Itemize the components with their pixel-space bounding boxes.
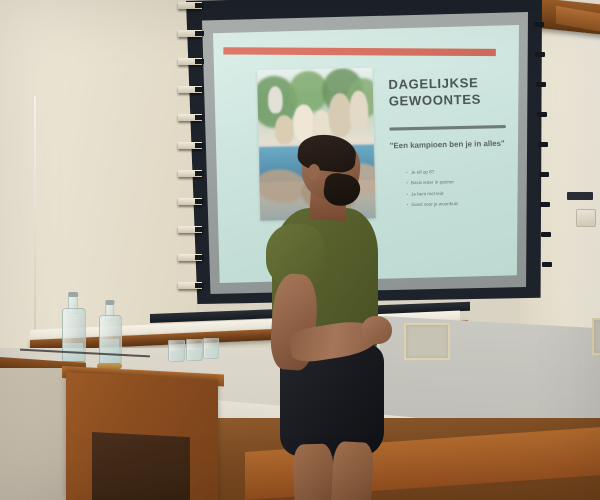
screen-left-slats <box>178 0 202 306</box>
wall-corner-edge <box>34 96 36 348</box>
presentation-room-scene: DAGELIJKSE GEWOONTES "Een kampioen ben j… <box>0 0 600 500</box>
presenter-leg-left <box>293 443 336 500</box>
presenter <box>250 138 410 500</box>
presenter-leg-right <box>330 441 374 500</box>
podium-panel <box>92 432 190 500</box>
wall-switch-plate[interactable] <box>567 192 593 200</box>
wall-panel-2 <box>592 318 600 355</box>
wall-panel-1 <box>404 323 450 360</box>
drinking-glass-3 <box>203 338 219 359</box>
slide-title-line2: GEWOONTES <box>389 91 510 110</box>
glass-bottle-right <box>99 304 120 366</box>
slide-bullet-list: Je elf op 8? Basis ieder in partner Je b… <box>399 165 516 211</box>
wall-outlet[interactable] <box>576 209 596 227</box>
presenter-ear <box>308 164 320 180</box>
slide-title: DAGELIJKSE GEWOONTES <box>388 75 509 110</box>
slide-title-rule <box>389 125 506 131</box>
slide-accent-bar <box>223 47 496 56</box>
list-item: Goed voor je woonhuis <box>407 198 516 211</box>
drinking-glass-2 <box>186 339 203 361</box>
presenter-hand <box>362 316 392 344</box>
drinking-glass-1 <box>168 340 185 362</box>
